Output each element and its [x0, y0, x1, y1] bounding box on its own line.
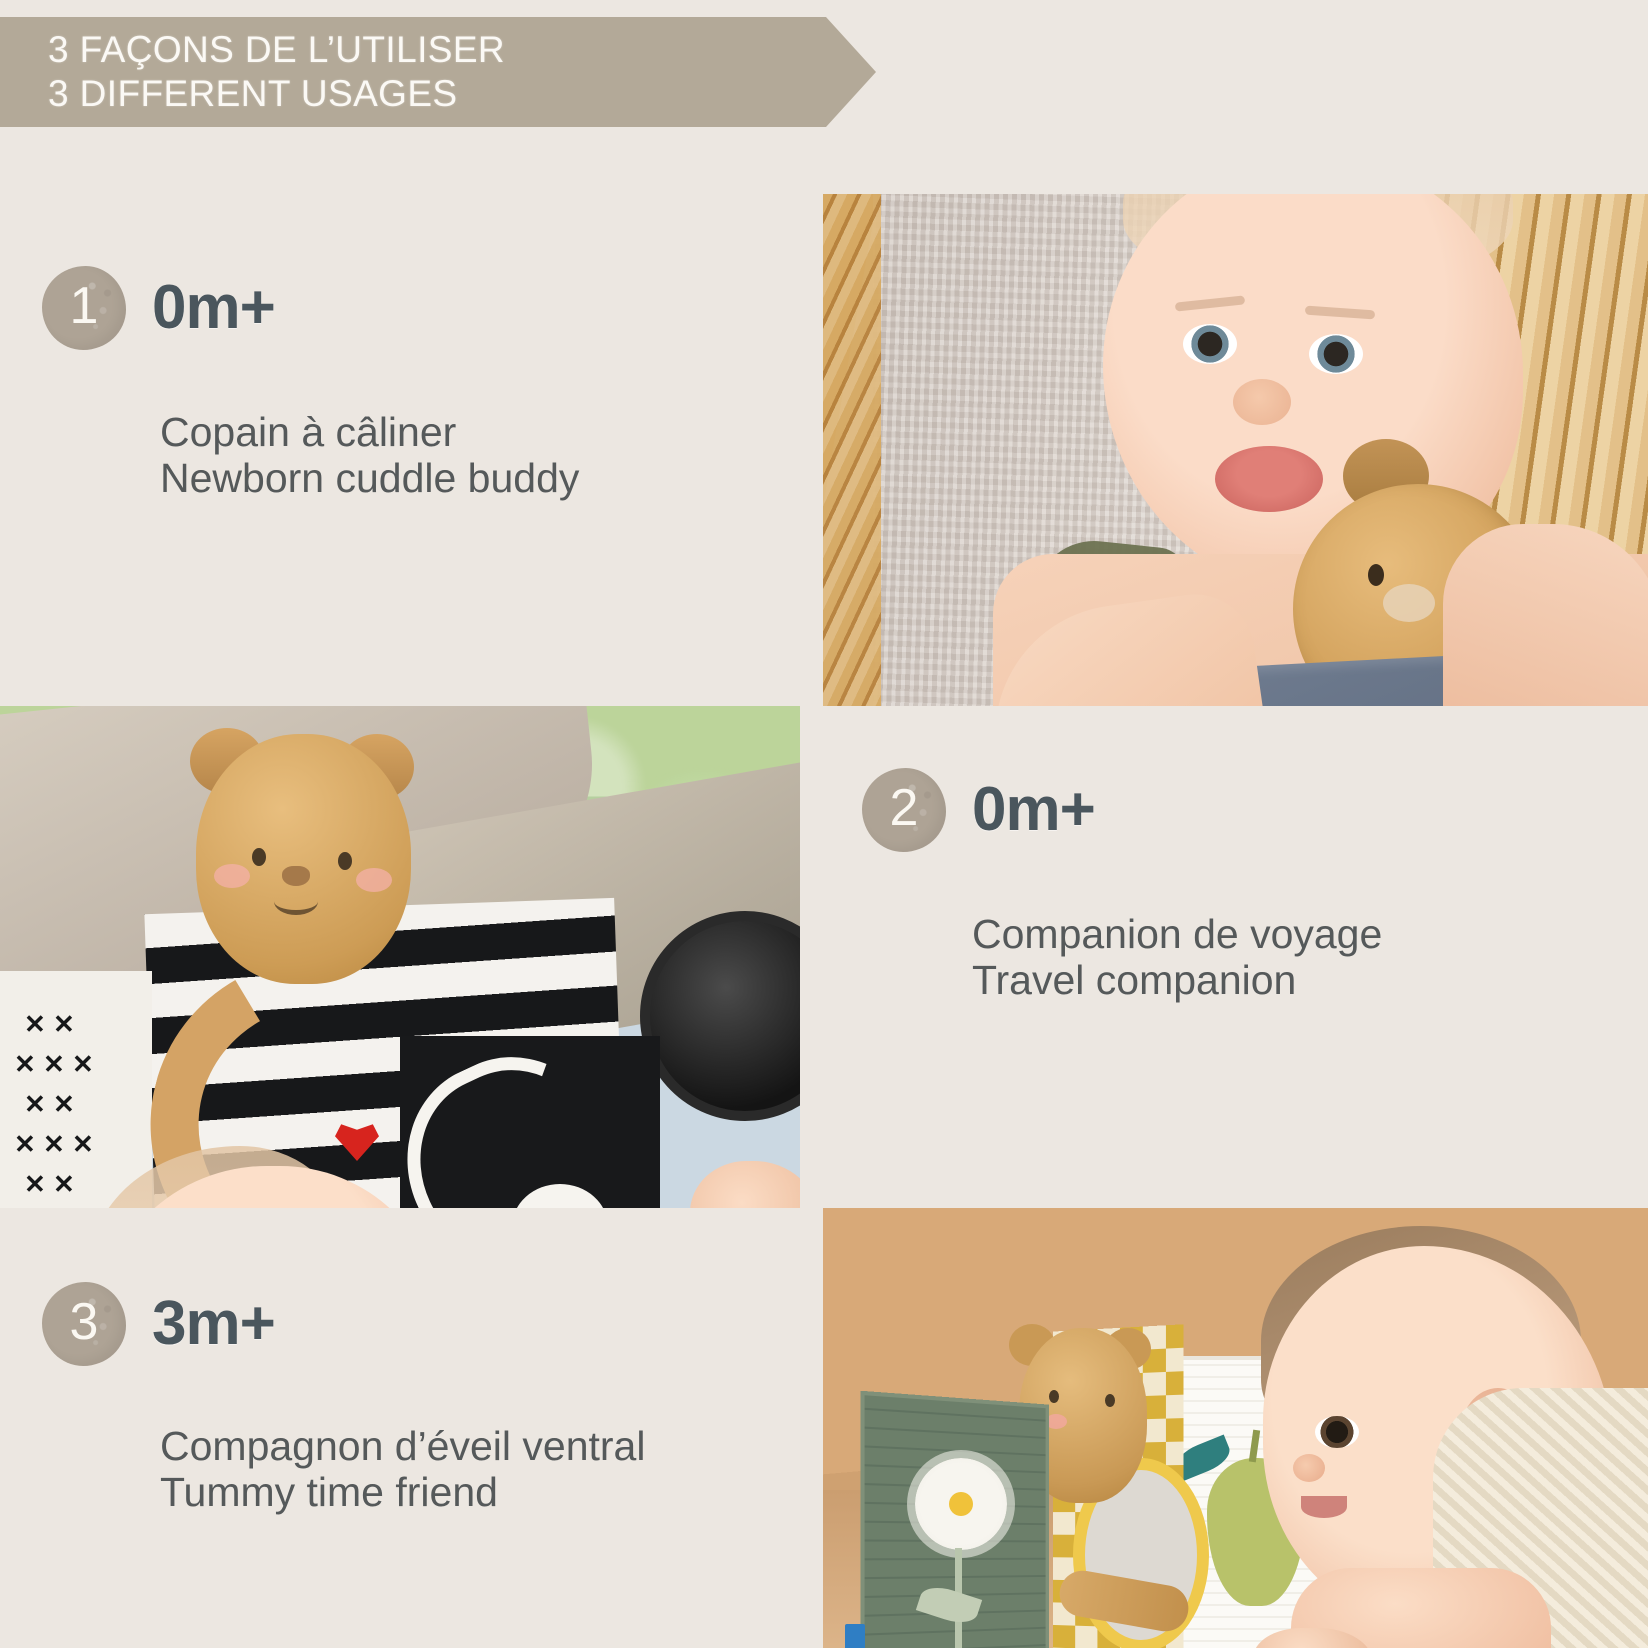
- usage-desc-en-2: Travel companion: [972, 958, 1382, 1004]
- usage-photo-1: ✕ ✕ ✕ ✕ ✕ ✕ ✕ ✕ ✕ ✕: [823, 194, 1648, 706]
- usage-desc-3: Compagnon d’éveil ventral Tummy time fri…: [160, 1424, 645, 1516]
- usage-infographic: 3 FAÇONS DE L’UTILISER 3 DIFFERENT USAGE…: [0, 0, 1648, 1648]
- usage-desc-en-3: Tummy time friend: [160, 1470, 645, 1516]
- usage-head-1: 1 0m+: [42, 266, 275, 350]
- step-badge-3: 3: [42, 1282, 126, 1366]
- usage-grid: 1 0m+ Copain à câliner Newborn cuddle bu…: [0, 0, 1648, 1648]
- usage-desc-1: Copain à câliner Newborn cuddle buddy: [160, 410, 579, 502]
- photo-travel-companion: ✕ ✕ ✕ ✕ ✕ ✕ ✕ ✕ ✕ ✕ ✕ ✕: [0, 706, 800, 1208]
- usage-desc-2: Companion de voyage Travel companion: [972, 912, 1382, 1004]
- photo-tummy-time: [823, 1208, 1648, 1648]
- usage-desc-en-1: Newborn cuddle buddy: [160, 456, 579, 502]
- usage-text-1: 1 0m+ Copain à câliner Newborn cuddle bu…: [0, 194, 823, 706]
- age-label-2: 0m+: [972, 779, 1095, 841]
- usage-text-2: 2 0m+ Companion de voyage Travel compani…: [800, 706, 1648, 1208]
- photo-newborn-cuddle: ✕ ✕ ✕ ✕ ✕ ✕ ✕ ✕ ✕ ✕: [823, 194, 1648, 706]
- usage-desc-fr-1: Copain à câliner: [160, 410, 579, 456]
- usage-photo-3: [823, 1208, 1648, 1648]
- step-number-2: 2: [890, 782, 919, 834]
- step-number-3: 3: [70, 1296, 99, 1348]
- usage-text-3: 3 3m+ Compagnon d’éveil ventral Tummy ti…: [0, 1208, 823, 1648]
- step-badge-2: 2: [862, 768, 946, 852]
- usage-head-2: 2 0m+: [862, 768, 1095, 852]
- age-label-3: 3m+: [152, 1293, 275, 1355]
- usage-head-3: 3 3m+: [42, 1282, 275, 1366]
- step-number-1: 1: [70, 280, 99, 332]
- step-badge-1: 1: [42, 266, 126, 350]
- usage-desc-fr-2: Companion de voyage: [972, 912, 1382, 958]
- age-label-1: 0m+: [152, 277, 275, 339]
- usage-desc-fr-3: Compagnon d’éveil ventral: [160, 1424, 645, 1470]
- usage-photo-2: ✕ ✕ ✕ ✕ ✕ ✕ ✕ ✕ ✕ ✕ ✕ ✕: [0, 706, 800, 1208]
